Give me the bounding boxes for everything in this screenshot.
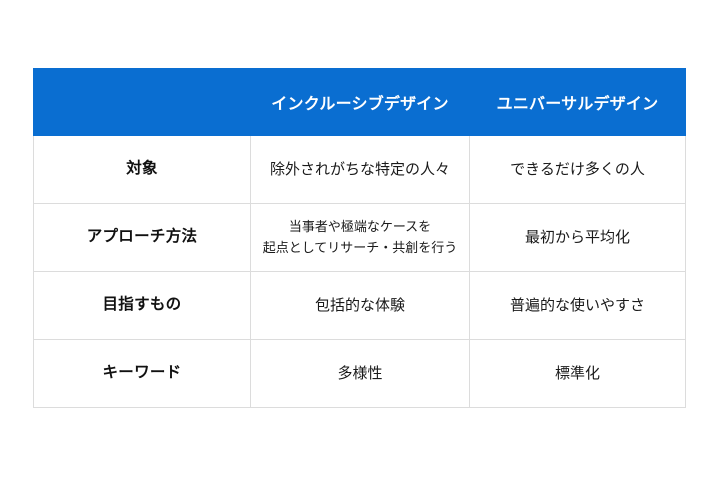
row-label-target: 対象 <box>34 136 251 204</box>
table-row: 対象 除外されがちな特定の人々 できるだけ多くの人 <box>34 136 686 204</box>
cell-inclusive-target: 除外されがちな特定の人々 <box>251 136 470 204</box>
table-row: 目指すもの 包括的な体験 普遍的な使いやすさ <box>34 272 686 340</box>
page-root: インクルーシブデザイン ユニバーサルデザイン 対象 除外されがちな特定の人々 で… <box>0 0 720 480</box>
header-row: インクルーシブデザイン ユニバーサルデザイン <box>34 69 686 136</box>
cell-inclusive-keyword: 多様性 <box>251 340 470 408</box>
cell-text-line-1: 当事者や極端なケースを <box>257 217 463 238</box>
cell-universal-target: できるだけ多くの人 <box>470 136 686 204</box>
row-label-keyword: キーワード <box>34 340 251 408</box>
row-label-goal: 目指すもの <box>34 272 251 340</box>
header-cell-universal-design: ユニバーサルデザイン <box>470 69 686 136</box>
cell-inclusive-approach: 当事者や極端なケースを 起点としてリサーチ・共創を行う <box>251 204 470 272</box>
table-row: キーワード 多様性 標準化 <box>34 340 686 408</box>
table-body: 対象 除外されがちな特定の人々 できるだけ多くの人 アプローチ方法 当事者や極端… <box>34 136 686 408</box>
header-cell-inclusive-design: インクルーシブデザイン <box>251 69 470 136</box>
comparison-table: インクルーシブデザイン ユニバーサルデザイン 対象 除外されがちな特定の人々 で… <box>33 68 686 408</box>
cell-text-line-2: 起点としてリサーチ・共創を行う <box>257 238 463 259</box>
table-header: インクルーシブデザイン ユニバーサルデザイン <box>34 69 686 136</box>
row-label-approach: アプローチ方法 <box>34 204 251 272</box>
cell-inclusive-goal: 包括的な体験 <box>251 272 470 340</box>
table-row: アプローチ方法 当事者や極端なケースを 起点としてリサーチ・共創を行う 最初から… <box>34 204 686 272</box>
cell-universal-keyword: 標準化 <box>470 340 686 408</box>
header-cell-corner <box>34 69 251 136</box>
cell-universal-goal: 普遍的な使いやすさ <box>470 272 686 340</box>
cell-universal-approach: 最初から平均化 <box>470 204 686 272</box>
